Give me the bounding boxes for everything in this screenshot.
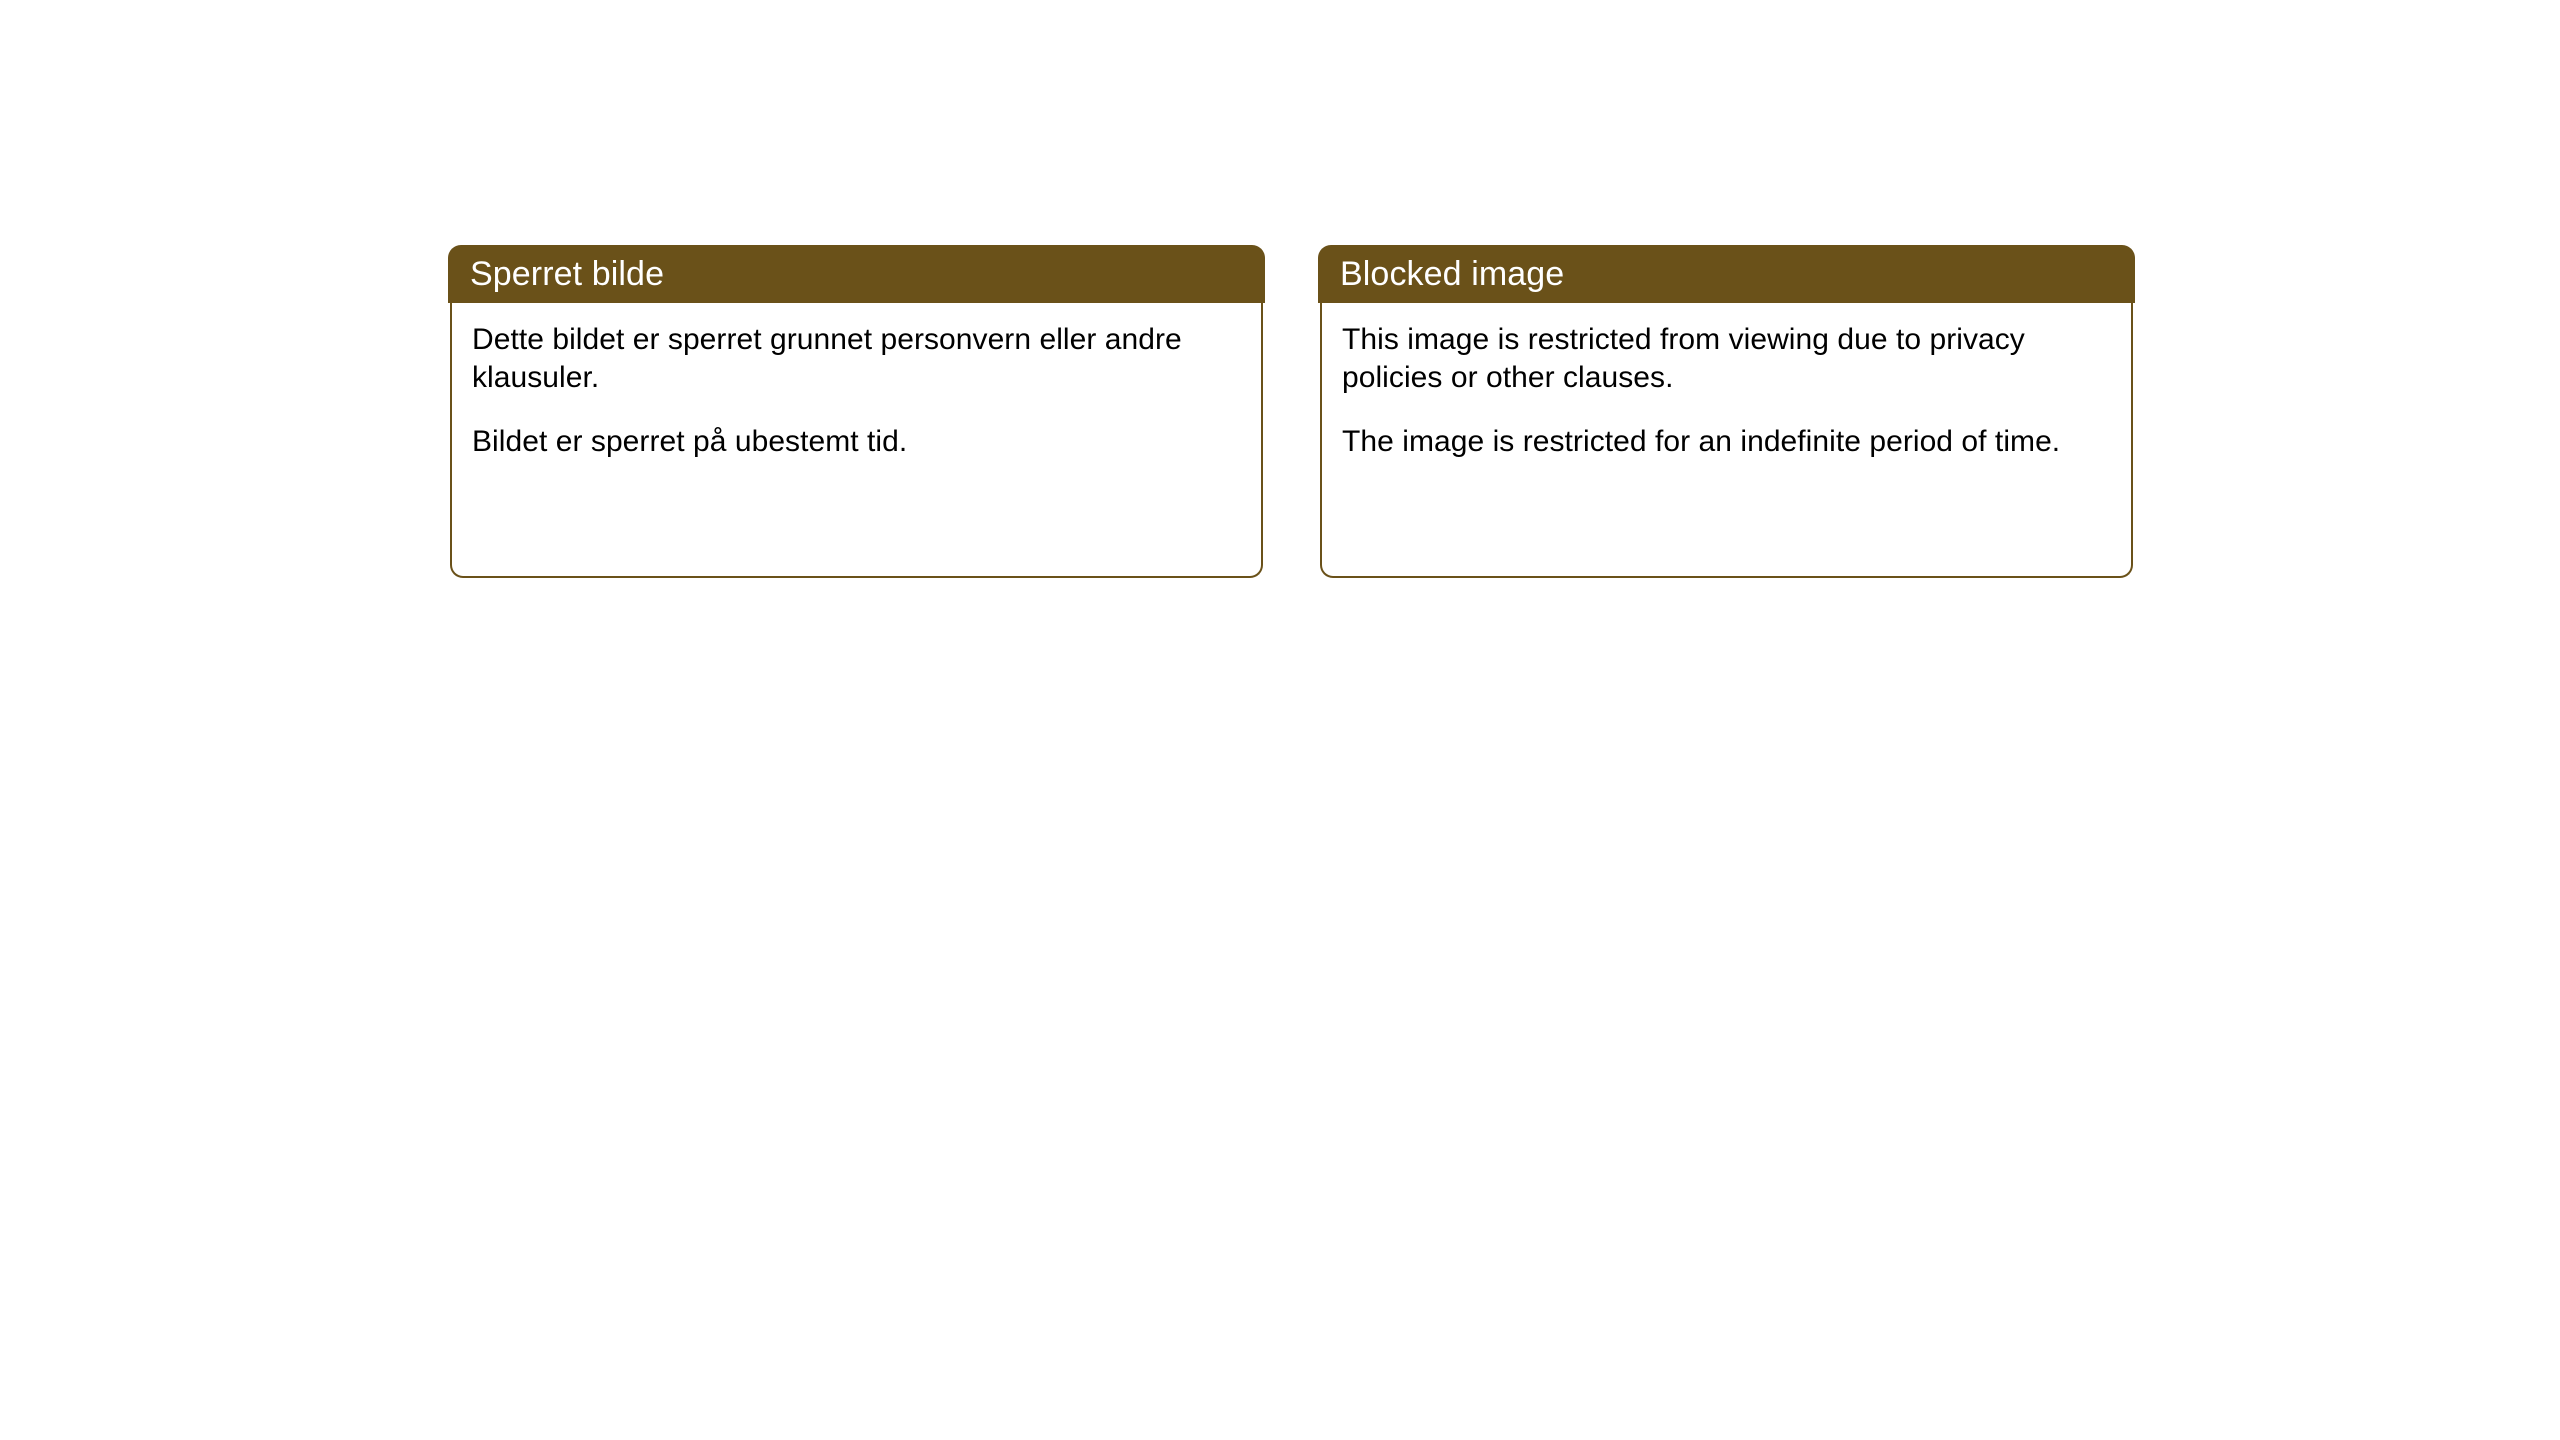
panel-paragraph-duration-norwegian: Bildet er sperret på ubestemt tid. [472,423,1239,461]
panel-header-english: Blocked image [1318,245,2135,303]
blocked-image-panel-norwegian: Sperret bilde Dette bildet er sperret gr… [448,245,1265,578]
panel-body-norwegian: Dette bildet er sperret grunnet personve… [450,303,1263,578]
paragraph-spacer [472,397,1239,423]
blocked-image-panel-english: Blocked image This image is restricted f… [1318,245,2135,578]
panel-paragraph-reason-norwegian: Dette bildet er sperret grunnet personve… [472,321,1239,397]
page-canvas: Sperret bilde Dette bildet er sperret gr… [0,0,2560,1440]
panel-body-english: This image is restricted from viewing du… [1320,303,2133,578]
panel-paragraph-duration-english: The image is restricted for an indefinit… [1342,423,2109,461]
paragraph-spacer [1342,397,2109,423]
panel-paragraph-reason-english: This image is restricted from viewing du… [1342,321,2109,397]
panel-header-norwegian: Sperret bilde [448,245,1265,303]
panel-title-norwegian: Sperret bilde [470,257,664,291]
panel-title-english: Blocked image [1340,257,1564,291]
